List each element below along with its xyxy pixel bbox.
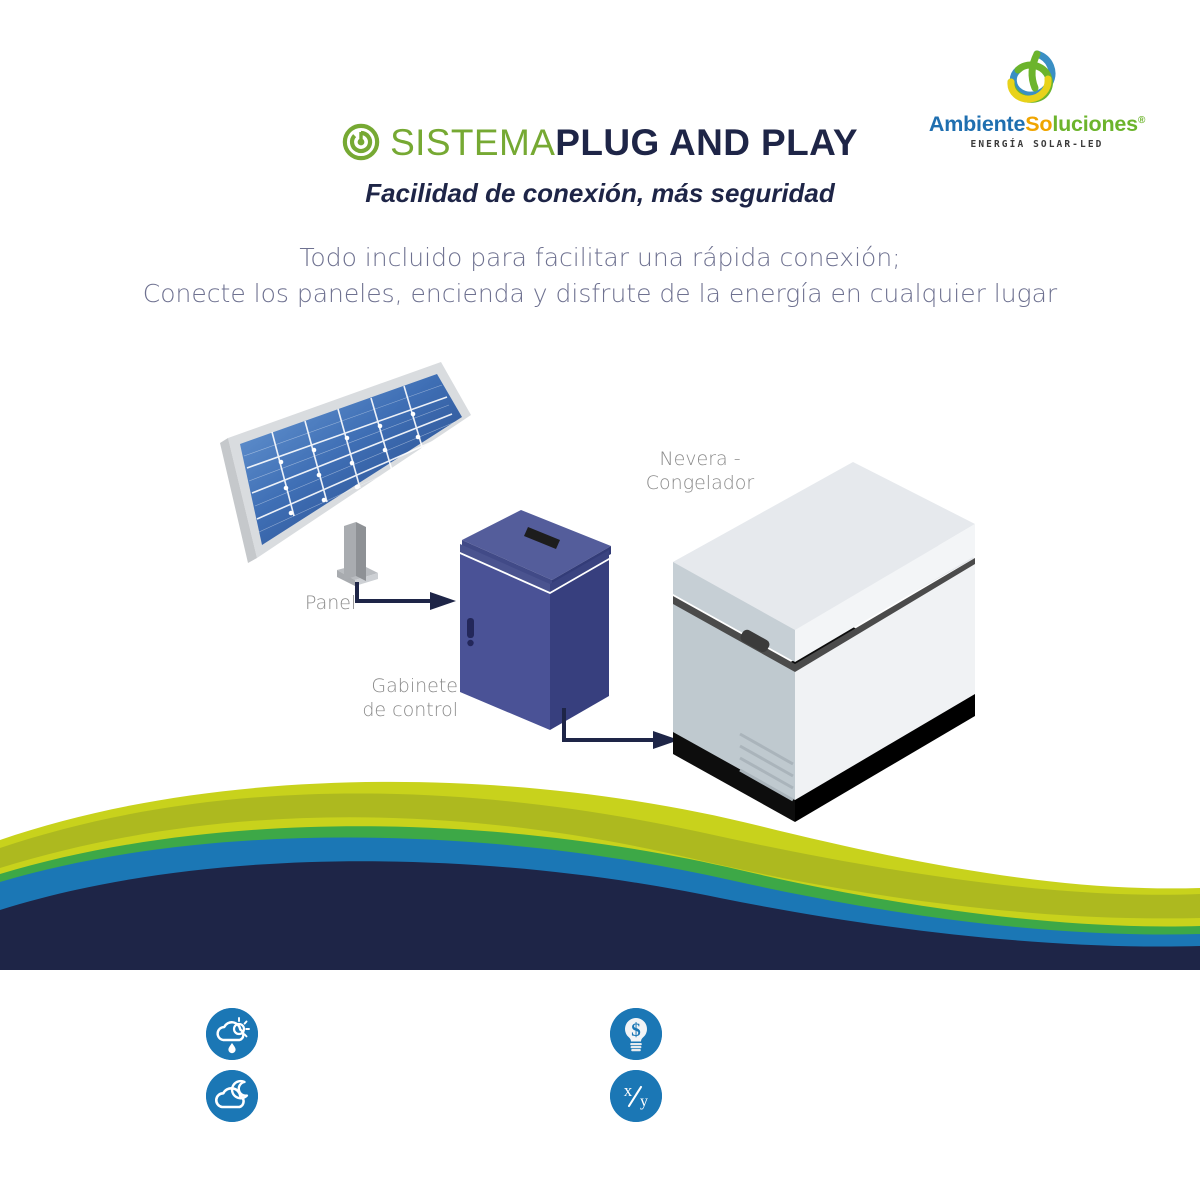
title-plug-and-play: PLUG AND PLAY: [555, 122, 858, 163]
title-sistema: SISTEMA: [390, 122, 555, 163]
svg-text:x: x: [624, 1081, 633, 1100]
label-freezer: Nevera - Congelador: [645, 448, 755, 496]
label-freezer-line1: Nevera -: [645, 448, 755, 472]
feature-item-0: Alta resistencia al desgaste: [206, 1008, 539, 1060]
lead-line-2: Conecte los paneles, encienda y disfrute…: [0, 276, 1200, 312]
feature-list: Alta resistencia al desgaste Funcionamie…: [0, 1000, 1200, 1160]
page-lead-text: Todo incluido para facilitar una rápida …: [0, 240, 1200, 311]
label-cabinet-line2: de control: [358, 699, 458, 723]
system-diagram: Panel Gabinete de control Nevera - Conge…: [0, 330, 1200, 830]
cloud-moon-icon: [206, 1070, 258, 1122]
infographic-page: AmbienteSoluciones® ENERGÍA SOLAR-LED SI…: [0, 0, 1200, 1200]
arrow-panel-to-cabinet: [357, 582, 432, 601]
logo-mark-icon: [994, 48, 1080, 110]
lead-line-1: Todo incluido para facilitar una rápida …: [0, 240, 1200, 276]
arrow-head-1: [430, 592, 456, 610]
feature-text-2: Ahorro del 100% de energía de la red elé…: [682, 1008, 948, 1065]
page-subtitle: Facilidad de conexión, más seguridad: [0, 178, 1200, 209]
svg-text:y: y: [640, 1093, 648, 1110]
control-cabinet: [460, 510, 611, 730]
label-control-cabinet: Gabinete de control: [358, 675, 458, 723]
decorative-wave: [0, 770, 1200, 970]
label-panel: Panel: [305, 592, 356, 616]
label-cabinet-line1: Gabinete: [358, 675, 458, 699]
svg-text:$: $: [631, 1020, 641, 1041]
fraction-xy-icon: x y: [610, 1070, 662, 1122]
feature-text-0: Alta resistencia al desgaste: [278, 1008, 539, 1039]
feature-text-1: Funcionamiento autónomo desde dos días h…: [278, 1070, 596, 1127]
power-refresh-icon: [342, 123, 380, 161]
feature-item-3: x y Garantía Variable: 10 años panel sol…: [610, 1070, 1052, 1127]
feature-item-1: Funcionamiento autónomo desde dos días h…: [206, 1070, 596, 1127]
page-title: SISTEMAPLUG AND PLAY: [0, 122, 1200, 164]
feature-item-2: $ Ahorro del 100% de energía de la red e…: [610, 1008, 948, 1065]
solar-panel: [220, 362, 471, 586]
feature-text-3: Garantía Variable: 10 años panel solar, …: [682, 1070, 1052, 1127]
lightbulb-dollar-icon: $: [610, 1008, 662, 1060]
chest-freezer: [673, 462, 975, 822]
label-freezer-line2: Congelador: [645, 472, 755, 496]
cloud-sun-rain-icon: [206, 1008, 258, 1060]
